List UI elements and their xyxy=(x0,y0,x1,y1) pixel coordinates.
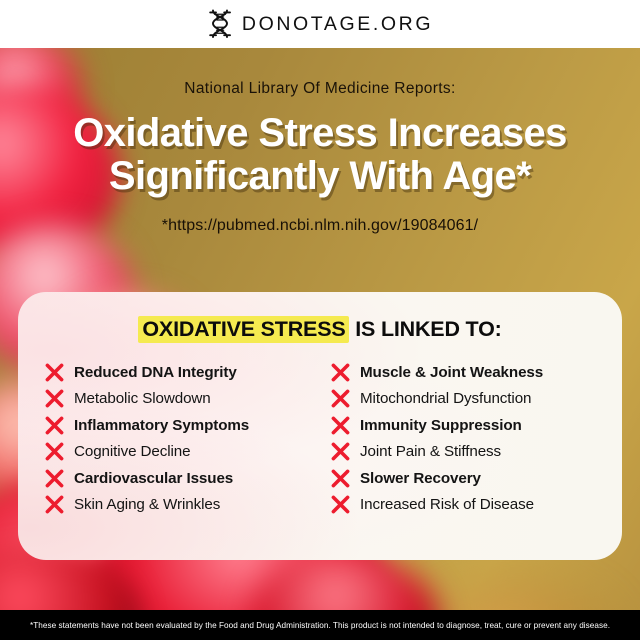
condition-label: Increased Risk of Disease xyxy=(360,496,534,513)
dna-helix-icon xyxy=(207,9,233,39)
conditions-column-right: Muscle & Joint WeaknessMitochondrial Dys… xyxy=(320,359,622,518)
x-mark-icon xyxy=(44,362,65,383)
brand-name: DONOTAGE.ORG xyxy=(242,13,433,36)
x-mark-icon xyxy=(44,415,65,436)
page-title: Oxidative Stress Increases Significantly… xyxy=(0,112,640,198)
source-url[interactable]: *https://pubmed.ncbi.nlm.nih.gov/1908406… xyxy=(0,217,640,235)
condition-row: Cognitive Decline xyxy=(44,439,320,466)
x-mark-icon xyxy=(330,494,351,515)
condition-label: Inflammatory Symptoms xyxy=(74,417,249,434)
headline-line-1: Oxidative Stress Increases xyxy=(73,111,567,155)
condition-row: Increased Risk of Disease xyxy=(330,492,622,519)
condition-label: Cognitive Decline xyxy=(74,443,191,460)
condition-row: Metabolic Slowdown xyxy=(44,386,320,413)
condition-label: Joint Pain & Stiffness xyxy=(360,443,501,460)
x-mark-icon xyxy=(44,388,65,409)
x-mark-icon xyxy=(330,362,351,383)
condition-row: Reduced DNA Integrity xyxy=(44,359,320,386)
header-block: National Library Of Medicine Reports: Ox… xyxy=(0,48,640,235)
x-mark-icon xyxy=(330,441,351,462)
condition-label: Skin Aging & Wrinkles xyxy=(74,496,220,513)
eyebrow-text: National Library Of Medicine Reports: xyxy=(0,80,640,98)
condition-row: Inflammatory Symptoms xyxy=(44,412,320,439)
disclaimer-text: *These statements have not been evaluate… xyxy=(30,621,610,630)
condition-row: Skin Aging & Wrinkles xyxy=(44,492,320,519)
card-title-highlight: OXIDATIVE STRESS xyxy=(138,316,349,343)
condition-label: Immunity Suppression xyxy=(360,417,522,434)
linked-conditions-card: OXIDATIVE STRESS IS LINKED TO: Reduced D… xyxy=(18,292,622,560)
condition-row: Immunity Suppression xyxy=(330,412,622,439)
condition-label: Slower Recovery xyxy=(360,470,481,487)
condition-row: Cardiovascular Issues xyxy=(44,465,320,492)
conditions-columns: Reduced DNA IntegrityMetabolic SlowdownI… xyxy=(18,359,622,518)
condition-row: Slower Recovery xyxy=(330,465,622,492)
conditions-column-left: Reduced DNA IntegrityMetabolic SlowdownI… xyxy=(18,359,320,518)
condition-label: Mitochondrial Dysfunction xyxy=(360,390,531,407)
condition-label: Cardiovascular Issues xyxy=(74,470,233,487)
condition-label: Reduced DNA Integrity xyxy=(74,364,237,381)
logo-band: DONOTAGE.ORG xyxy=(0,0,640,48)
x-mark-icon xyxy=(44,468,65,489)
condition-row: Joint Pain & Stiffness xyxy=(330,439,622,466)
disclaimer-bar: *These statements have not been evaluate… xyxy=(0,610,640,640)
x-mark-icon xyxy=(44,441,65,462)
condition-label: Metabolic Slowdown xyxy=(74,390,211,407)
card-title-rest: IS LINKED TO: xyxy=(349,317,501,341)
headline-line-2: Significantly With Age* xyxy=(0,155,640,198)
condition-label: Muscle & Joint Weakness xyxy=(360,364,543,381)
x-mark-icon xyxy=(44,494,65,515)
x-mark-icon xyxy=(330,415,351,436)
x-mark-icon xyxy=(330,388,351,409)
condition-row: Muscle & Joint Weakness xyxy=(330,359,622,386)
condition-row: Mitochondrial Dysfunction xyxy=(330,386,622,413)
poster: DONOTAGE.ORG National Library Of Medicin… xyxy=(0,0,640,640)
x-mark-icon xyxy=(330,468,351,489)
card-title: OXIDATIVE STRESS IS LINKED TO: xyxy=(18,317,622,342)
